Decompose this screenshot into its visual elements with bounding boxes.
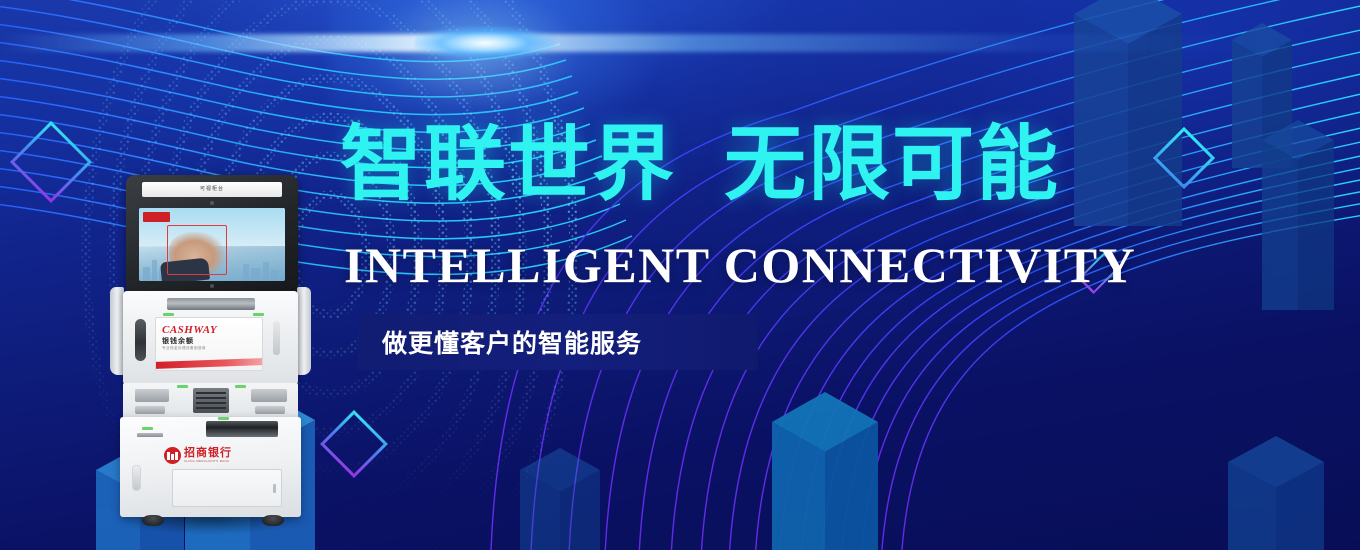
kiosk-screen-focus-frame bbox=[167, 225, 227, 275]
subtitle-english: INTELLIGENT CONNECTIVITY bbox=[344, 240, 1136, 290]
bank-name-en: CHINA MERCHANTS BANK bbox=[184, 459, 232, 463]
kiosk-cash-counter bbox=[193, 388, 229, 413]
kiosk-upper-panel: CASHWAY 银钱余额 专业现金处理设备制造商 bbox=[123, 291, 298, 385]
kiosk-card-cn: 银钱余额 bbox=[162, 336, 262, 346]
kiosk-screen bbox=[139, 208, 285, 281]
kiosk-screen-logo bbox=[143, 212, 170, 222]
kiosk-body: CASHWAY 银钱余额 专业现金处理设备制造商 bbox=[110, 287, 311, 519]
kiosk-camera-icon bbox=[210, 201, 214, 205]
page-title: 智联世界无限可能 bbox=[340, 124, 1060, 206]
kiosk-card-redbar bbox=[156, 358, 262, 369]
diamond-title-icon bbox=[1162, 136, 1206, 180]
kiosk-card-sub: 专业现金处理设备制造商 bbox=[162, 346, 262, 351]
headline-part2: 无限可能 bbox=[724, 119, 1060, 210]
kiosk-top-label: 可视柜台 bbox=[142, 182, 282, 197]
kiosk-arm-left bbox=[110, 287, 124, 375]
kiosk-lower-cabinet: 招商银行 CHINA MERCHANTS BANK bbox=[120, 417, 301, 517]
kiosk-product-image: 可视柜台 bbox=[108, 175, 313, 547]
kiosk-brand-card: CASHWAY 银钱余额 专业现金处理设备制造商 bbox=[155, 317, 263, 371]
bank-mark-icon bbox=[164, 447, 181, 464]
kiosk-deposit-slot bbox=[206, 421, 278, 437]
kiosk-receipt-slot bbox=[137, 433, 163, 437]
hero-banner: 可视柜台 bbox=[0, 0, 1360, 550]
headline-part1: 智联世界 bbox=[340, 119, 676, 210]
kiosk-cabinet-door bbox=[172, 469, 282, 507]
bank-name-cn: 招商银行 bbox=[184, 448, 232, 459]
kiosk-bank-logo: 招商银行 CHINA MERCHANTS BANK bbox=[164, 447, 232, 464]
tagline-text: 做更懂客户的智能服务 bbox=[382, 324, 642, 360]
kiosk-handset-icon bbox=[135, 319, 146, 361]
tagline-box: 做更懂客户的智能服务 bbox=[358, 314, 758, 370]
diamond-bottom-icon bbox=[330, 420, 378, 468]
kiosk-top-slot bbox=[167, 298, 255, 310]
kiosk-card-brand: CASHWAY bbox=[162, 324, 262, 336]
kiosk-arm-right bbox=[297, 287, 311, 375]
kiosk-mid-panel bbox=[123, 383, 298, 419]
kiosk-stylus-icon bbox=[273, 321, 280, 355]
kiosk-lock-icon bbox=[132, 465, 141, 491]
kiosk-monitor: 可视柜台 bbox=[126, 175, 298, 293]
diamond-left-icon bbox=[22, 133, 80, 191]
